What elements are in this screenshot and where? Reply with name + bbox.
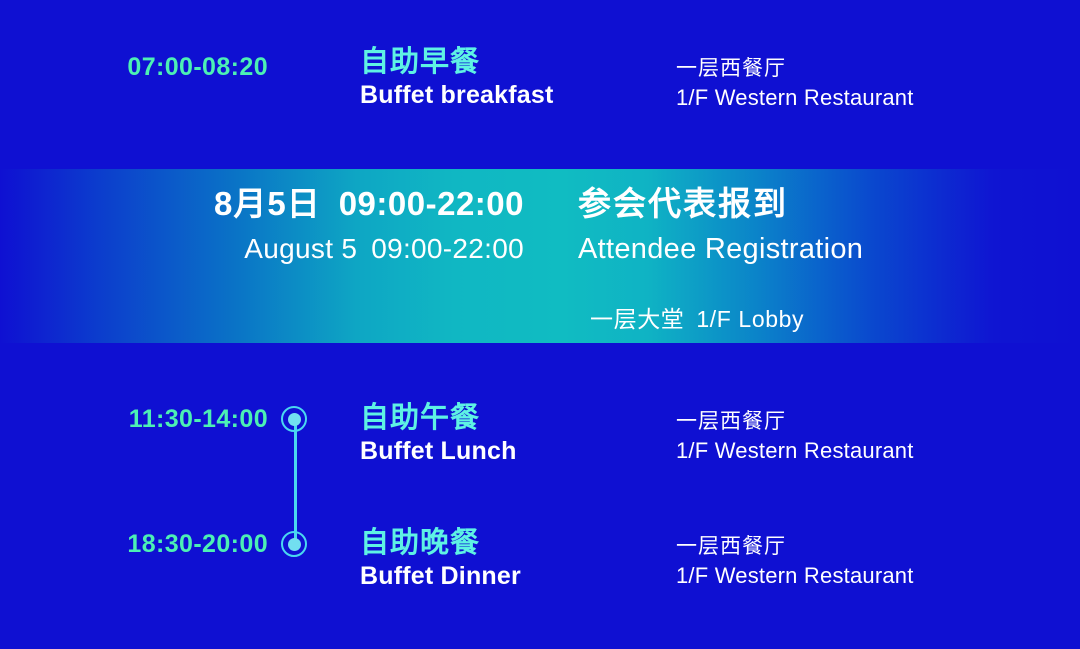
registration-title-cn: 参会代表报到 (578, 183, 1078, 224)
row-time-cell: 18:30-20:00 (0, 532, 268, 557)
schedule-poster: 07:00-08:20 自助早餐 Buffet breakfast 一层西餐厅 … (0, 0, 1080, 649)
dinner-title-cn: 自助晚餐 (360, 525, 660, 561)
timeline-dot-icon-lunch (281, 406, 307, 432)
row-venue-cell: 一层西餐厅 1/F Western Restaurant (676, 408, 1056, 466)
registration-date-en-line: August 509:00-22:00 (0, 231, 524, 267)
registration-date-cn: 8月5日 (214, 185, 321, 222)
registration-date-en: August 5 (244, 233, 357, 264)
dinner-title-en: Buffet Dinner (360, 561, 660, 592)
breakfast-title-en: Buffet breakfast (360, 80, 660, 111)
row-title-cell: 自助晚餐 Buffet Dinner (360, 525, 660, 593)
timeline-line (294, 419, 297, 545)
row-venue-cell: 一层西餐厅 1/F Western Restaurant (676, 533, 1056, 591)
registration-venue-cn: 一层大堂 (590, 306, 684, 332)
timeline-dot-icon-dinner (281, 531, 307, 557)
registration-time-cn: 09:00-22:00 (339, 185, 524, 222)
dinner-venue-cn: 一层西餐厅 (676, 533, 1056, 561)
row-title-cell: 自助早餐 Buffet breakfast (360, 44, 660, 112)
breakfast-venue-en: 1/F Western Restaurant (676, 83, 1056, 113)
row-time-cell: 07:00-08:20 (0, 55, 268, 80)
timeline-connector (281, 405, 309, 559)
registration-time-en: 09:00-22:00 (371, 233, 524, 264)
lunch-time: 11:30-14:00 (0, 407, 268, 432)
registration-venue-en: 1/F Lobby (696, 306, 804, 332)
lunch-venue-en: 1/F Western Restaurant (676, 436, 1056, 466)
lunch-title-en: Buffet Lunch (360, 436, 660, 467)
breakfast-time: 07:00-08:20 (0, 55, 268, 80)
row-title-cell: 自助午餐 Buffet Lunch (360, 400, 660, 468)
registration-date-block: 8月5日09:00-22:00 August 509:00-22:00 (0, 183, 552, 268)
breakfast-title-cn: 自助早餐 (360, 44, 660, 80)
breakfast-venue-cn: 一层西餐厅 (676, 55, 1056, 83)
lunch-title-cn: 自助午餐 (360, 400, 660, 436)
registration-venue-line: 一层大堂1/F Lobby (590, 300, 804, 334)
dinner-venue-en: 1/F Western Restaurant (676, 561, 1056, 591)
row-venue-cell: 一层西餐厅 1/F Western Restaurant (676, 55, 1056, 113)
registration-date-cn-line: 8月5日09:00-22:00 (0, 183, 524, 224)
registration-title-en: Attendee Registration (578, 231, 1078, 269)
dinner-time: 18:30-20:00 (0, 532, 268, 557)
row-time-cell: 11:30-14:00 (0, 407, 268, 432)
registration-title-block: 参会代表报到 Attendee Registration (578, 183, 1078, 269)
lunch-venue-cn: 一层西餐厅 (676, 408, 1056, 436)
